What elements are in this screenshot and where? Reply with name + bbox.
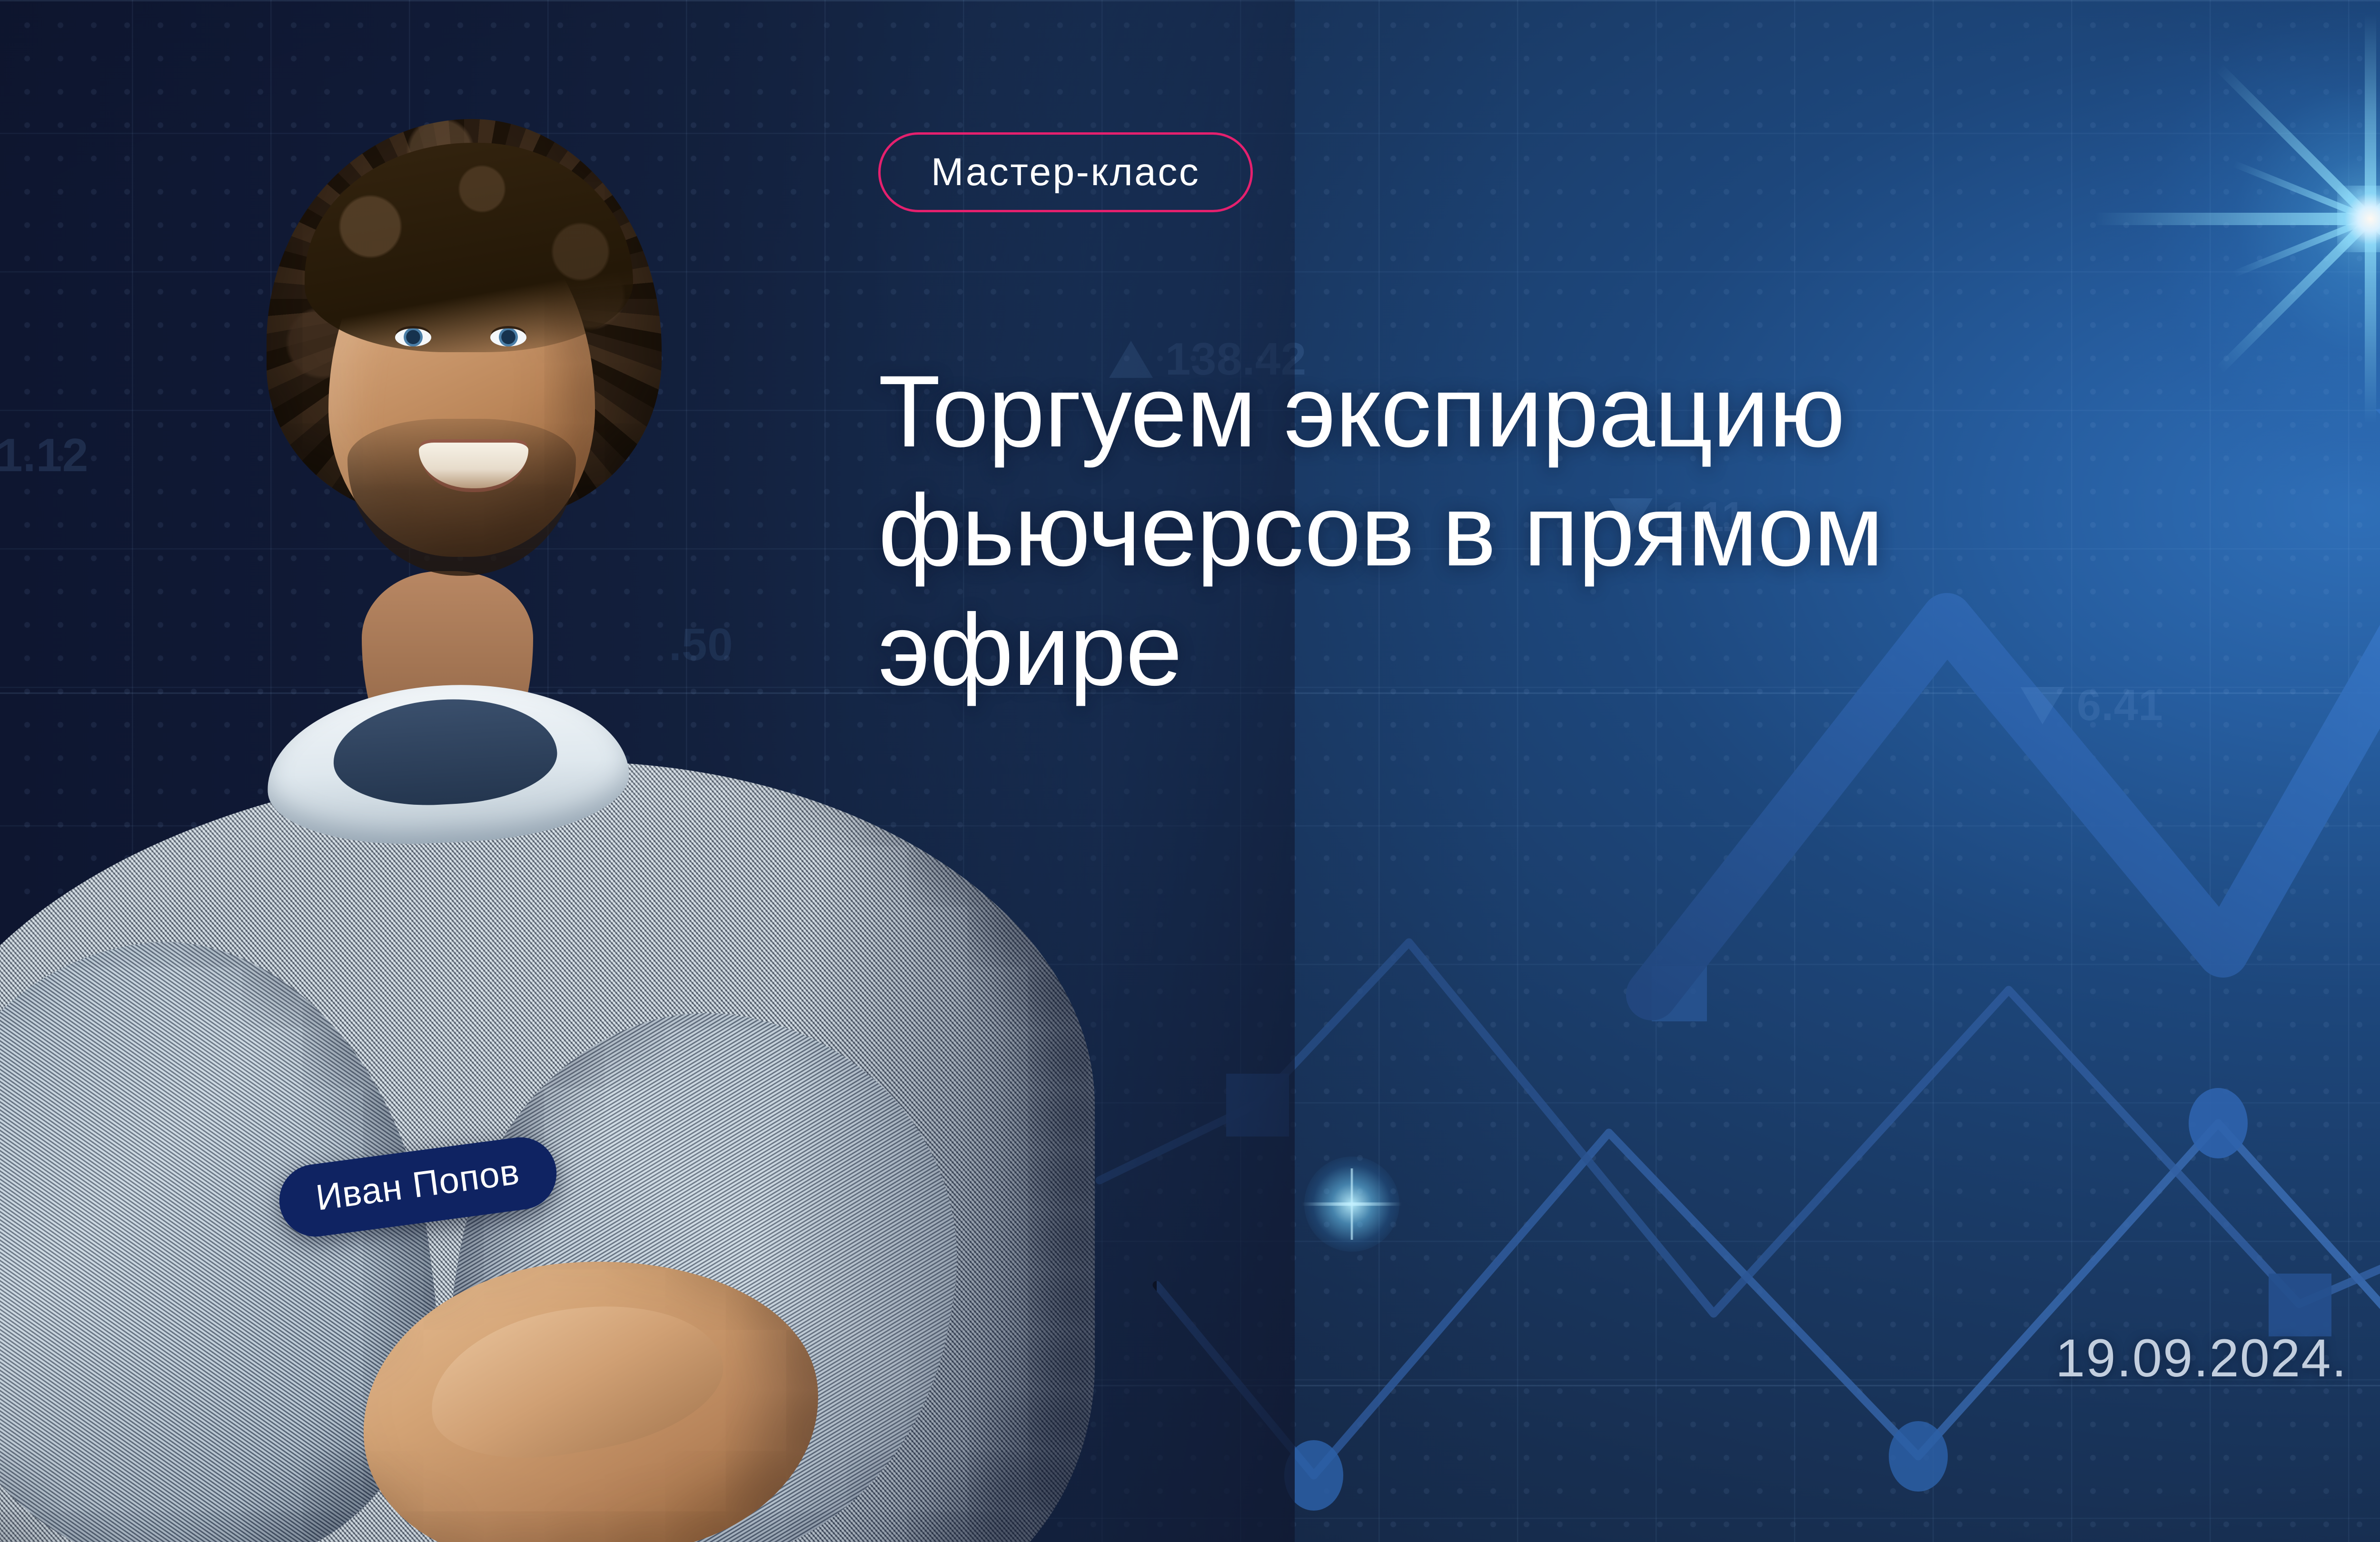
kicker-badge: Мастер-класс	[878, 132, 1253, 212]
headline-line-2: фьючерсов в прямом	[878, 471, 2349, 590]
event-date: 19.09.2024.	[2055, 1332, 2348, 1385]
headline-line-1: Торгуем экспирацию	[878, 352, 2349, 471]
kicker-label: Мастер-класс	[931, 153, 1200, 192]
page-title: Торгуем экспирацию фьючерсов в прямом эф…	[878, 352, 2349, 710]
promo-banner: 138.42 1.11 6.41 138.64 31.12 .50 Ив	[0, 0, 2380, 1542]
background-vignette	[0, 0, 2380, 1542]
headline-line-3: эфире	[878, 591, 2349, 710]
